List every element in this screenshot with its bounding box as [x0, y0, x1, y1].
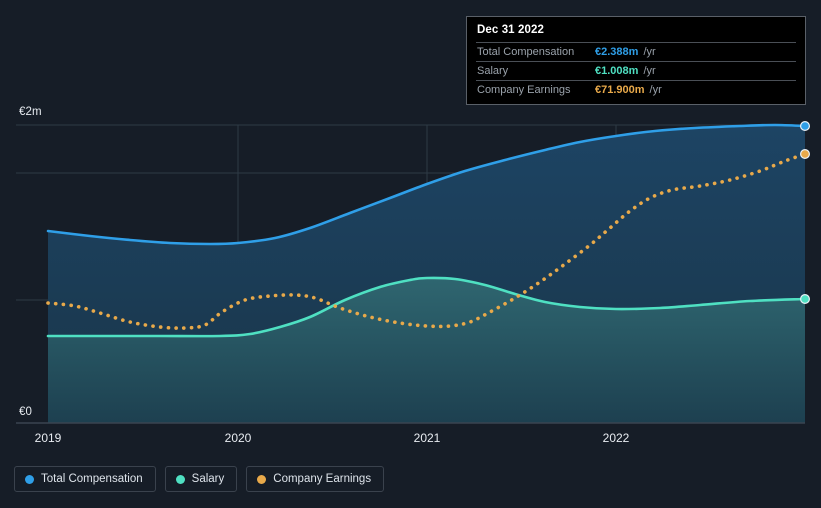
x-axis-tick-2020: 2020 — [225, 431, 252, 445]
y-axis-label-min: €0 — [19, 406, 32, 418]
tooltip-series-name: Total Compensation — [477, 46, 595, 58]
y-axis-label-max: €2m — [19, 106, 42, 118]
tooltip-series-name: Salary — [477, 65, 595, 77]
compensation-chart: €2m €0 2019202020212022 Dec 31 2022 Tota… — [0, 0, 821, 508]
tooltip-row: Total Compensation€2.388m/yr — [476, 42, 796, 61]
x-axis-tick-2021: 2021 — [414, 431, 441, 445]
tooltip-series-value: €1.008m — [595, 65, 638, 77]
legend-item-label: Total Compensation — [41, 473, 143, 485]
legend-item-salary[interactable]: Salary — [165, 466, 238, 492]
tooltip-series-unit: /yr — [643, 65, 655, 77]
tooltip-row: Salary€1.008m/yr — [476, 61, 796, 80]
legend-item-label: Salary — [192, 473, 225, 485]
tooltip-series-value: €2.388m — [595, 46, 638, 58]
legend-item-total-compensation[interactable]: Total Compensation — [14, 466, 156, 492]
legend-color-dot-icon — [257, 475, 266, 484]
tooltip-series-name: Company Earnings — [477, 84, 595, 96]
chart-legend[interactable]: Total CompensationSalaryCompany Earnings — [14, 466, 384, 492]
legend-color-dot-icon — [25, 475, 34, 484]
legend-color-dot-icon — [176, 475, 185, 484]
x-axis-tick-2019: 2019 — [35, 431, 62, 445]
tooltip-rows: Total Compensation€2.388m/yrSalary€1.008… — [476, 42, 796, 99]
chart-tooltip: Dec 31 2022 Total Compensation€2.388m/yr… — [466, 16, 806, 105]
tooltip-series-value: €71.900m — [595, 84, 645, 96]
tooltip-series-unit: /yr — [643, 46, 655, 58]
legend-item-label: Company Earnings — [273, 473, 371, 485]
legend-item-company-earnings[interactable]: Company Earnings — [246, 466, 384, 492]
tooltip-series-unit: /yr — [650, 84, 662, 96]
tooltip-row: Company Earnings€71.900m/yr — [476, 80, 796, 99]
x-axis-tick-2022: 2022 — [603, 431, 630, 445]
tooltip-date: Dec 31 2022 — [476, 24, 796, 42]
